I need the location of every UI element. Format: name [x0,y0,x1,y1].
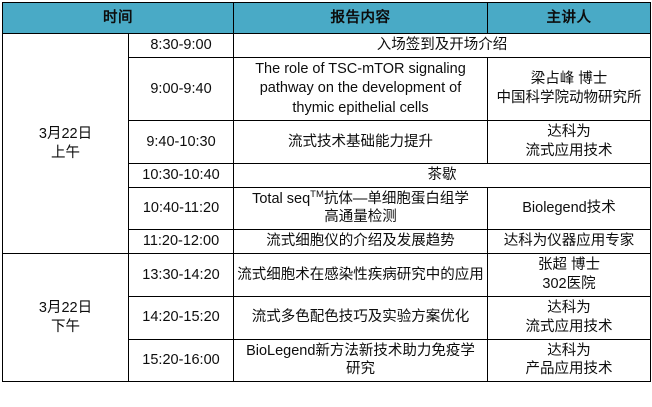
row-time: 8:30-9:00 [129,34,234,58]
row-time: 13:30-14:20 [129,254,234,297]
row-time: 9:40-10:30 [129,121,234,164]
row-speaker: 达科为 产品应用技术 [488,339,651,382]
row-time: 9:00-9:40 [129,57,234,120]
row-content: 流式细胞术在感染性疾病研究中的应用 [234,254,488,297]
row-speaker: 梁占峰 博士 中国科学院动物研究所 [488,57,651,120]
row-content-line-2: pathway on the development of [237,79,484,98]
column-header-content: 报告内容 [234,3,488,34]
row-speaker-line-2: 302医院 [491,275,647,294]
row-time: 14:20-15:20 [129,296,234,339]
row-content-line-3: thymic epithelial cells [237,99,484,118]
row-speaker-line-2: 中国科学院动物研究所 [491,89,647,108]
schedule-sheet: 时间 报告内容 主讲人 3月22日 上午 8:30-9:00 入场签到及开场介绍… [0,0,652,407]
session-date-line-2: 上午 [6,144,125,163]
row-time: 10:40-11:20 [129,187,234,230]
row-content: 流式多色配色技巧及实验方案优化 [234,296,488,339]
row-speaker-line-1: 达科为 [491,299,647,318]
row-content-line-1: The role of TSC-mTOR signaling [237,60,484,79]
table-body: 3月22日 上午 8:30-9:00 入场签到及开场介绍 9:00-9:40 T… [3,34,651,382]
row-content-full: 入场签到及开场介绍 [234,34,651,58]
row-content: Total seqTM抗体—单细胞蛋白组学 高通量检测 [234,187,488,230]
session-date-afternoon: 3月22日 下午 [3,254,129,382]
row-speaker-line-1: 达科为 [491,342,647,361]
row-content: 流式细胞仪的介绍及发展趋势 [234,230,488,254]
row-content-head: Total seq [252,191,310,207]
row-time: 11:20-12:00 [129,230,234,254]
row-content-full: 茶歇 [234,163,651,187]
row-speaker-line-1: 张超 博士 [491,256,647,275]
row-content: BioLegend新方法新技术助力免疫学 研究 [234,339,488,382]
session-date-morning: 3月22日 上午 [3,34,129,254]
row-content-line-2: 研究 [237,360,484,379]
row-content: The role of TSC-mTOR signaling pathway o… [234,57,488,120]
row-content-line-1: Total seqTM抗体—单细胞蛋白组学 [237,190,484,209]
row-time: 10:30-10:40 [129,163,234,187]
row-content-tail: 抗体—单细胞蛋白组学 [324,191,469,207]
table-row: 3月22日 上午 8:30-9:00 入场签到及开场介绍 [3,34,651,58]
session-date-line-1: 3月22日 [6,299,125,318]
row-content-line-1: BioLegend新方法新技术助力免疫学 [237,342,484,361]
row-speaker: 达科为 流式应用技术 [488,121,651,164]
conference-schedule-table: 时间 报告内容 主讲人 3月22日 上午 8:30-9:00 入场签到及开场介绍… [2,2,651,382]
row-content-line-2: 高通量检测 [237,208,484,227]
table-header: 时间 报告内容 主讲人 [3,3,651,34]
row-speaker: 达科为 流式应用技术 [488,296,651,339]
row-speaker-line-2: 流式应用技术 [491,318,647,337]
session-date-line-1: 3月22日 [6,125,125,144]
row-speaker-line-2: 产品应用技术 [491,360,647,379]
row-speaker-line-1: 达科为 [491,123,647,142]
row-speaker: 达科为仪器应用专家 [488,230,651,254]
row-content: 流式技术基础能力提升 [234,121,488,164]
session-date-line-2: 下午 [6,318,125,337]
row-time: 15:20-16:00 [129,339,234,382]
table-row: 3月22日 下午 13:30-14:20 流式细胞术在感染性疾病研究中的应用 张… [3,254,651,297]
row-speaker: 张超 博士 302医院 [488,254,651,297]
trademark-superscript: TM [310,189,324,200]
column-header-speaker: 主讲人 [488,3,651,34]
header-row: 时间 报告内容 主讲人 [3,3,651,34]
column-header-time: 时间 [3,3,234,34]
row-speaker-line-2: 流式应用技术 [491,142,647,161]
row-speaker-line-1: 梁占峰 博士 [491,70,647,89]
row-speaker: Biolegend技术 [488,187,651,230]
